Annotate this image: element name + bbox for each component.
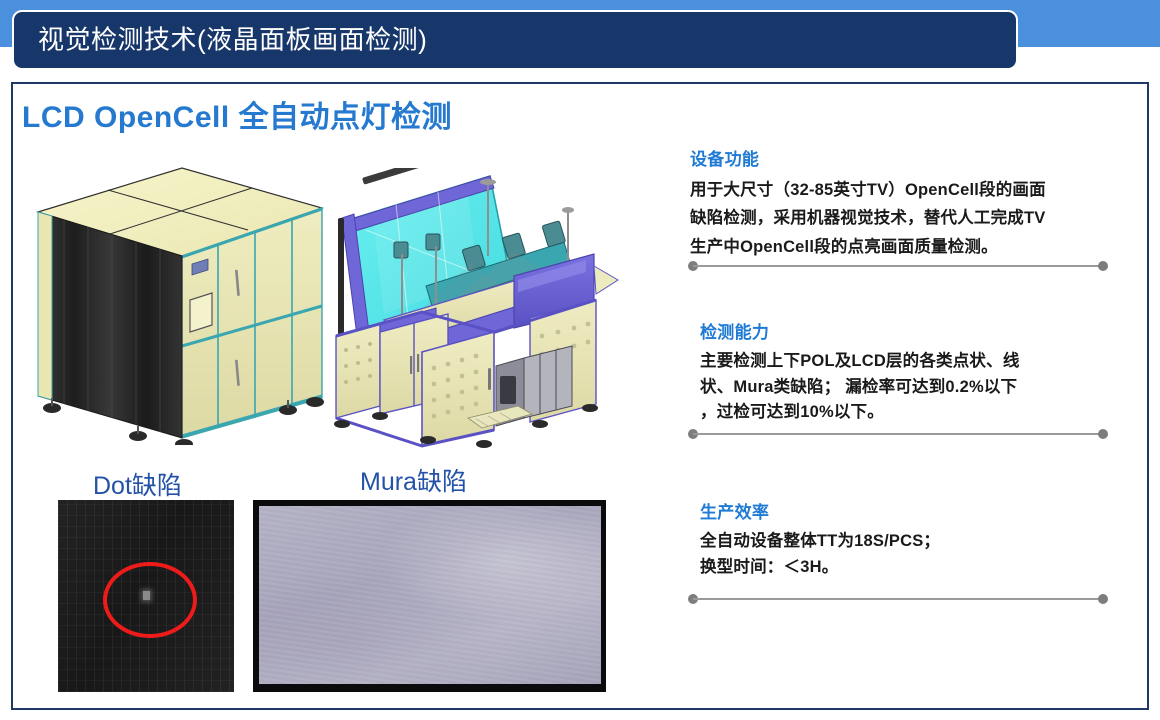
slide-title: 视觉检测技术(液晶面板画面检测)	[38, 26, 427, 55]
mura-defect-photo	[253, 500, 606, 692]
mura-panel-surface	[259, 506, 601, 684]
info-body: 主要检测上下POL及LCD层的各类点状、线 状、Mura类缺陷； 漏检率可达到0…	[700, 349, 1120, 426]
info-body: 用于大尺寸（32-85英寸TV）OpenCell段的画面 缺陷检测，采用机器视觉…	[690, 176, 1110, 261]
separator-line	[693, 598, 1103, 600]
info-line: 主要检测上下POL及LCD层的各类点状、线	[700, 349, 1120, 375]
info-line: 状、Mura类缺陷； 漏检率可达到0.2%以下	[700, 375, 1120, 401]
info-line: 全自动设备整体TT为18S/PCS；	[700, 529, 1120, 555]
info-line: 用于大尺寸（32-85英寸TV）OpenCell段的画面	[690, 176, 1110, 204]
info-block-equipment-function: 设备功能 用于大尺寸（32-85英寸TV）OpenCell段的画面 缺陷检测，采…	[690, 145, 1110, 261]
info-line: 生产中OpenCell段的点亮画面质量检测。	[690, 233, 1110, 261]
defect-highlight-circle	[103, 562, 197, 638]
separator-dot-right	[1098, 594, 1108, 604]
separator-3	[688, 594, 1108, 604]
info-body: 全自动设备整体TT为18S/PCS； 换型时间：＜3H。	[700, 529, 1120, 580]
separator-dot-right	[1098, 261, 1108, 271]
separator-line	[693, 433, 1103, 435]
dot-defect-photo	[58, 500, 234, 692]
info-title: 生产效率	[700, 498, 1120, 523]
info-title: 检测能力	[700, 318, 1120, 343]
separator-2	[688, 429, 1108, 439]
info-line: ，过检可达到10%以下。	[700, 400, 1120, 426]
info-title: 设备功能	[690, 145, 1110, 170]
slide-title-bar: 视觉检测技术(液晶面板画面检测)	[12, 10, 1018, 70]
cabinet-illustration	[30, 160, 330, 445]
separator-line	[693, 265, 1103, 267]
info-block-production-efficiency: 生产效率 全自动设备整体TT为18S/PCS； 换型时间：＜3H。	[700, 498, 1120, 580]
info-line: 缺陷检测，采用机器视觉技术，替代人工完成TV	[690, 204, 1110, 232]
info-line: 换型时间：＜3H。	[700, 555, 1120, 581]
inspection-station-illustration	[318, 168, 628, 448]
separator-1	[688, 261, 1108, 271]
caption-mura-defect: Mura缺陷	[360, 462, 467, 498]
section-heading: LCD OpenCell 全自动点灯检测	[22, 92, 452, 136]
caption-dot-defect: Dot缺陷	[93, 466, 182, 502]
info-block-detection-capability: 检测能力 主要检测上下POL及LCD层的各类点状、线 状、Mura类缺陷； 漏检…	[700, 318, 1120, 426]
separator-dot-right	[1098, 429, 1108, 439]
